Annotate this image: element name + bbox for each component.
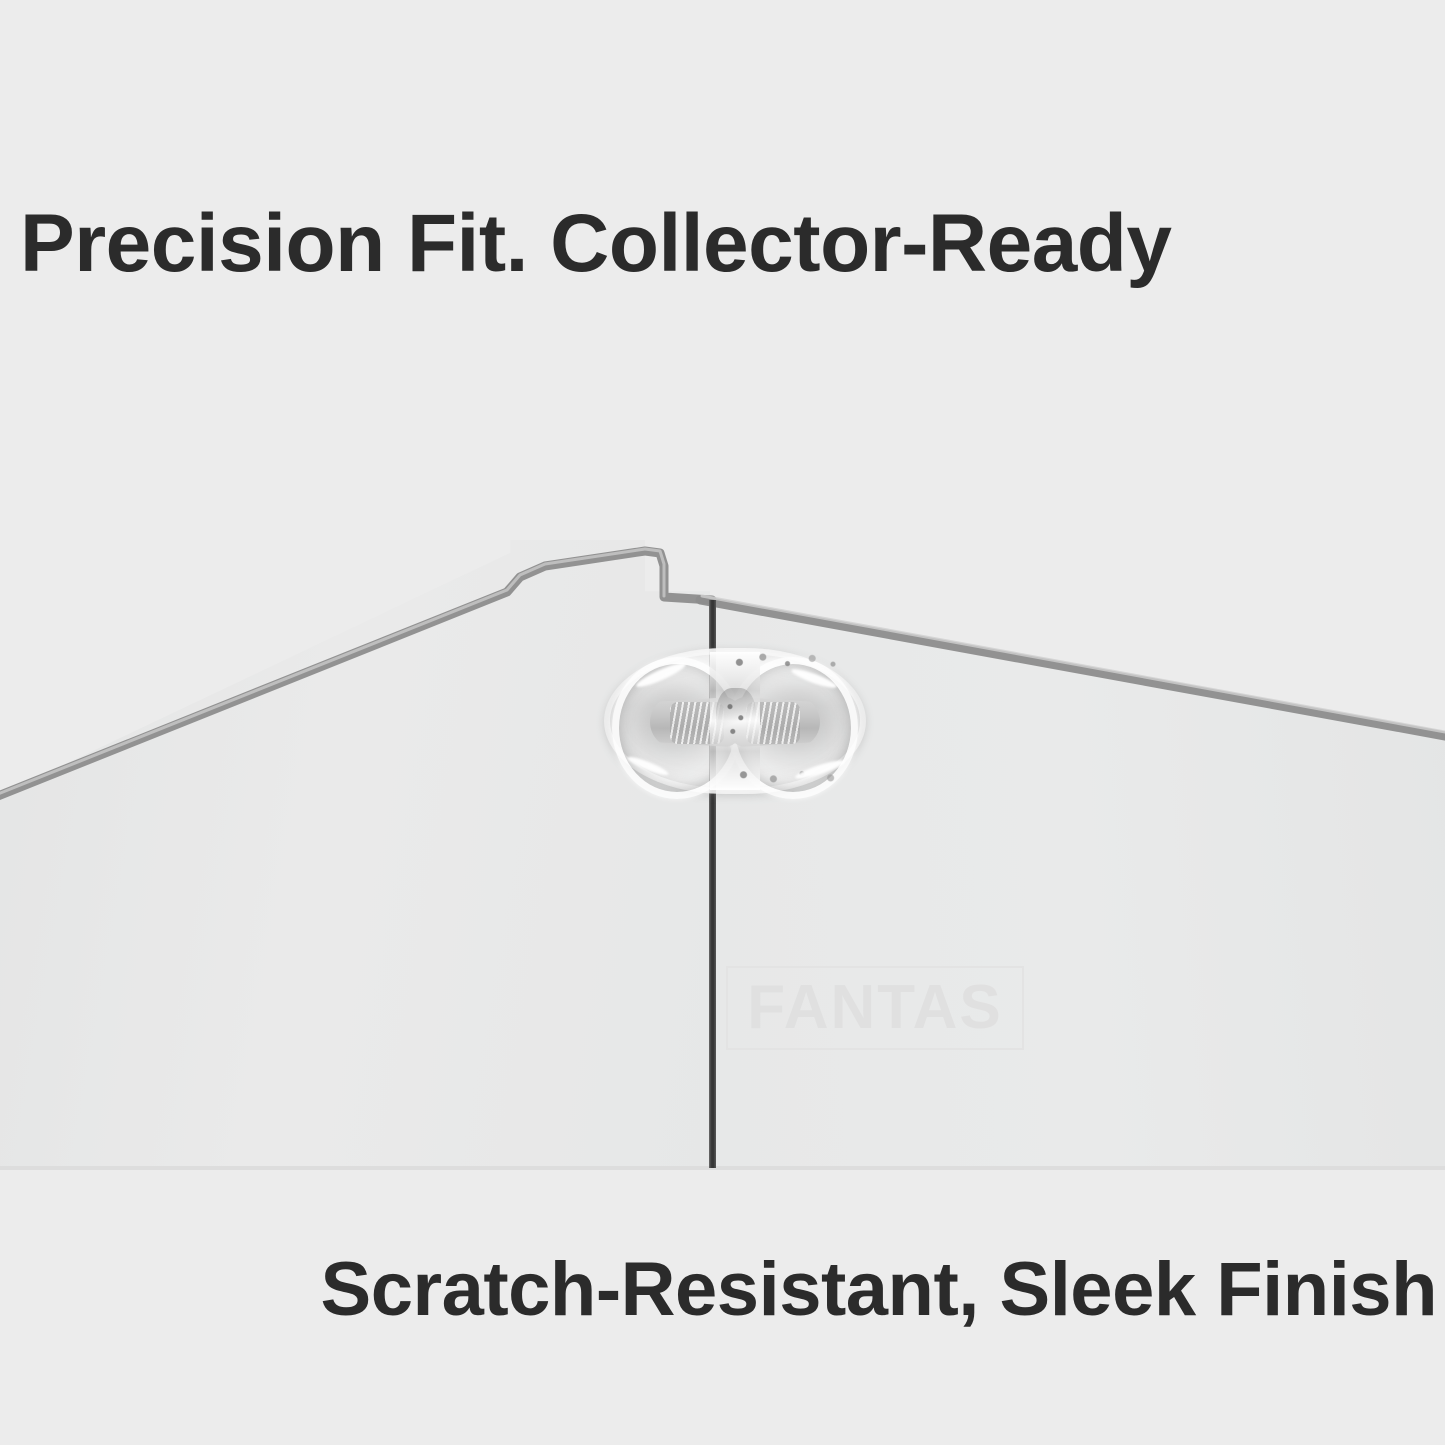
headline-text: Precision Fit. Collector-Ready [20, 203, 1172, 285]
watermark-text: FANTAS [747, 977, 1002, 1039]
clear-acrylic-connector [604, 648, 866, 794]
product-marketing-image: FANTAS Precision Fit. Collector-Ready Sc… [0, 0, 1445, 1445]
connector-top-highlight [716, 648, 846, 674]
acrylic-panel-left [0, 540, 730, 1180]
subline-text: Scratch-Resistant, Sleek Finish [321, 1252, 1437, 1328]
watermark-box: FANTAS [726, 966, 1024, 1050]
connector-refraction-glints [716, 688, 756, 750]
